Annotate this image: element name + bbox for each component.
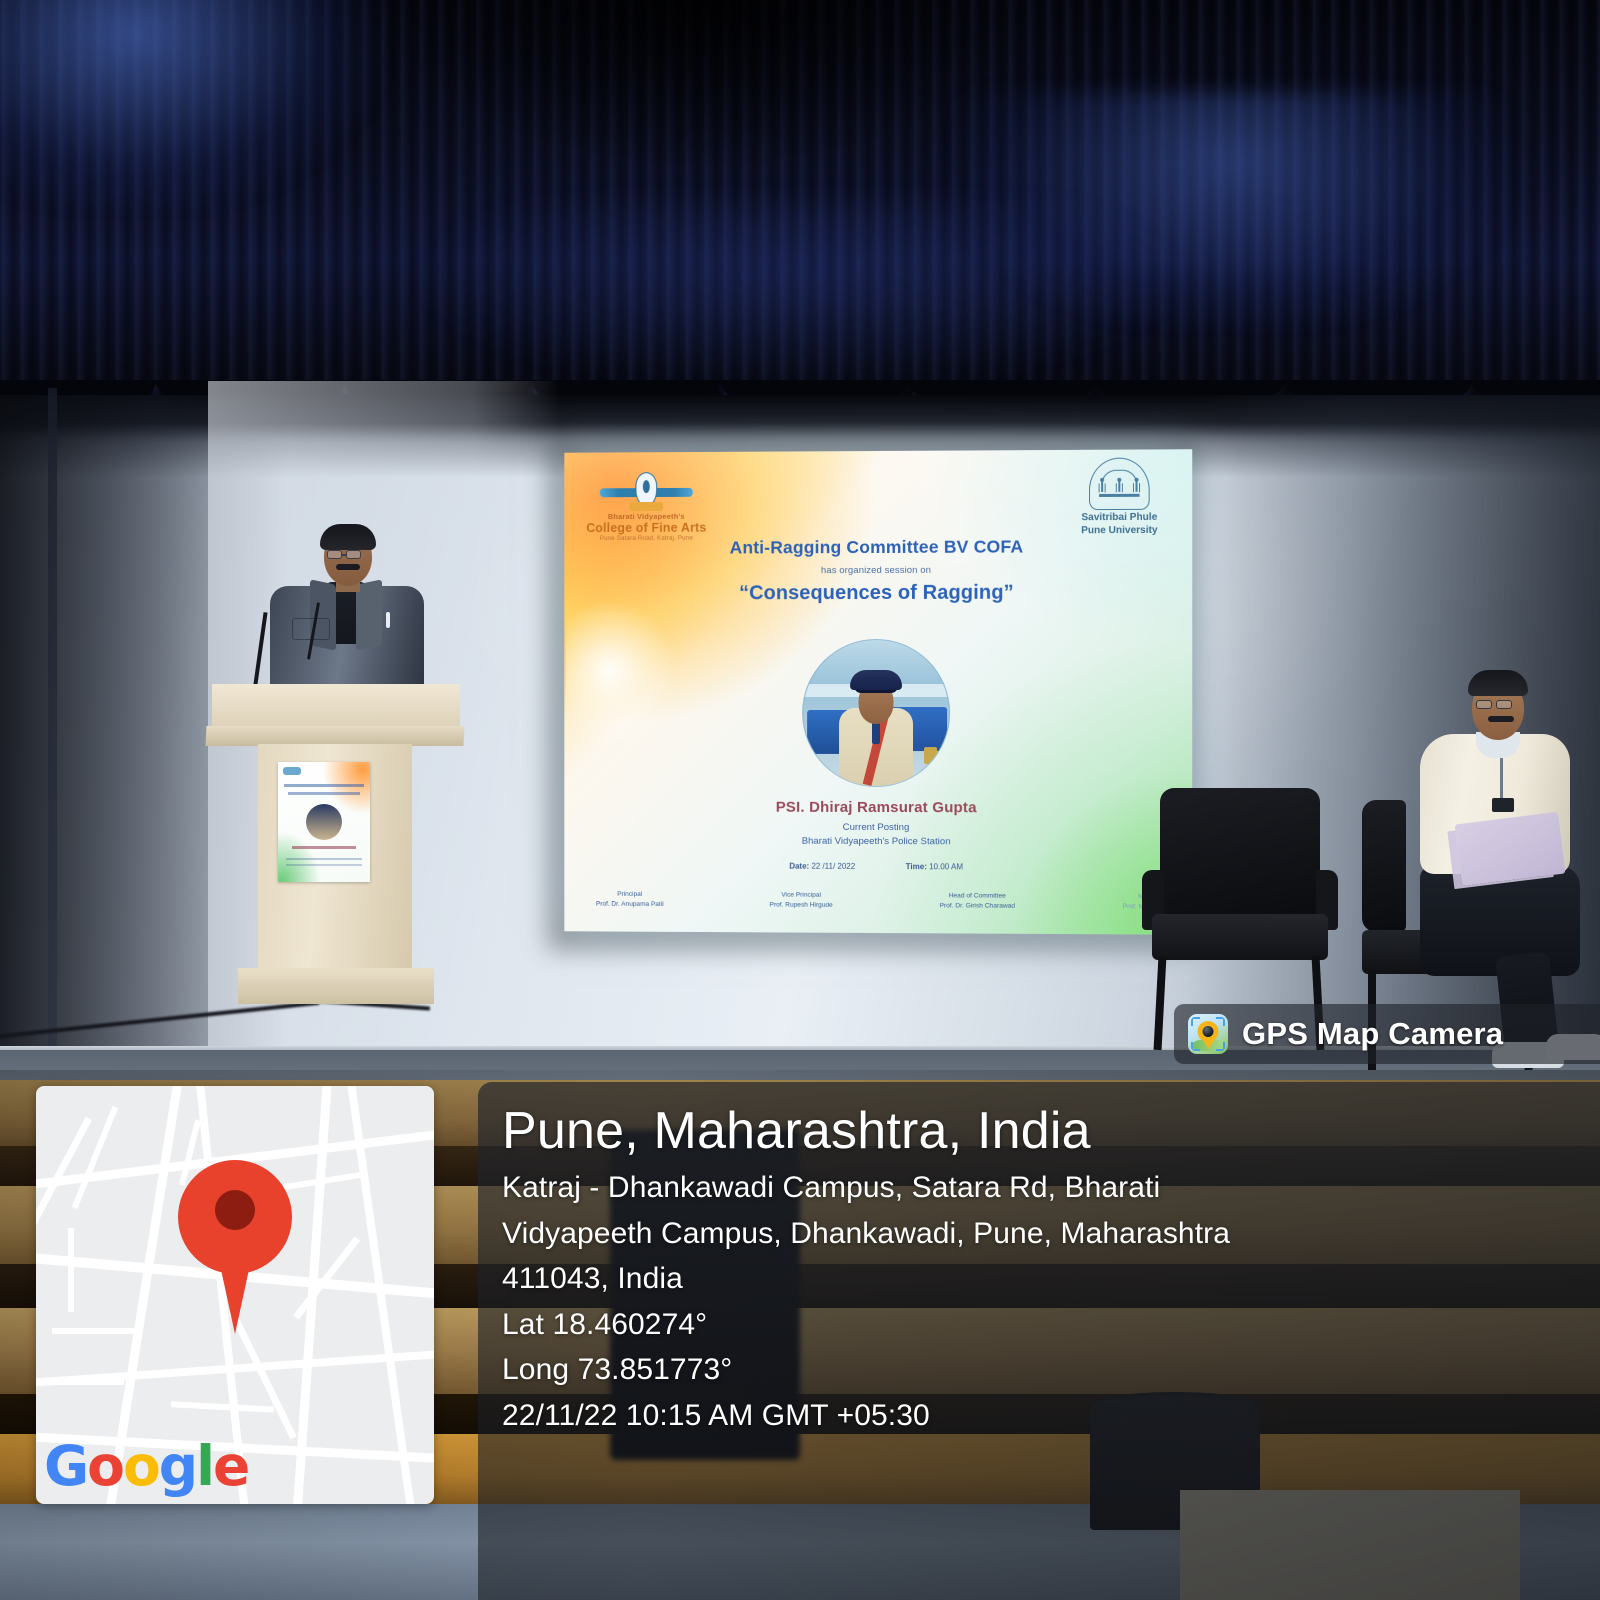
slide-heading: Anti-Ragging Committee BV COFA — [564, 536, 1192, 559]
podium-lip — [205, 726, 464, 746]
address-line-1: Katraj - Dhankawadi Campus, Satara Rd, B… — [502, 1165, 1572, 1211]
college-crest-icon — [600, 472, 693, 512]
slide-time-label: Time: — [906, 862, 927, 871]
curtain-highlight-center — [416, 202, 1184, 391]
wordmark-letter: l — [196, 1434, 213, 1498]
longitude-value: Long 73.851773° — [502, 1347, 1572, 1393]
college-logo: Bharati Vidyapeeth's College of Fine Art… — [582, 472, 711, 542]
wall-panel-edge — [48, 388, 57, 1050]
location-info-panel: Pune, Maharashtra, India Katraj - Dhanka… — [478, 1082, 1600, 1600]
university-logo-line1: Savitribai Phule — [1059, 512, 1180, 525]
slide-theme: “Consequences of Ragging” — [564, 581, 1192, 605]
credit-role: Head of Committee — [940, 891, 1015, 901]
gps-map-camera-watermark: GPS Map Camera — [1174, 1004, 1600, 1064]
location-title: Pune, Maharashtra, India — [502, 1104, 1572, 1159]
wordmark-letter: o — [87, 1434, 123, 1498]
credit-role: Vice Principal — [770, 891, 833, 901]
stage-curtain — [0, 0, 1600, 420]
university-logo: Savitribai Phule Pune University — [1059, 457, 1180, 537]
credit-name: Prof. Dr. Anupama Patil — [596, 899, 664, 909]
gps-map-camera-label: GPS Map Camera — [1242, 1016, 1503, 1052]
slide-date-value: 22 /11/ 2022 — [811, 862, 855, 871]
wordmark-letter: e — [213, 1434, 248, 1498]
credit-name: Prof. Rupesh Hirgude — [770, 900, 833, 910]
slide-credits-row: Principal Prof. Dr. Anupama Patil Vice P… — [596, 890, 1178, 912]
slide-speaker-name: PSI. Dhiraj Ramsurat Gupta — [564, 798, 1192, 817]
college-logo-line2: College of Fine Arts — [582, 521, 711, 535]
credit-item: Principal Prof. Dr. Anupama Patil — [596, 890, 664, 909]
latitude-value: Lat 18.460274° — [502, 1302, 1572, 1348]
police-officer-portrait — [802, 639, 950, 787]
timestamp-value: 22/11/22 10:15 AM GMT +05:30 — [502, 1393, 1572, 1439]
slide-date-time-row: Date: 22 /11/ 2022 Time: 10.00 AM — [564, 861, 1192, 873]
curtain-shadow — [384, 0, 1024, 168]
address-line-3: 411043, India — [502, 1256, 1572, 1302]
photograph: Bharati Vidyapeeth's College of Fine Art… — [0, 0, 1600, 1600]
person-speaking-at-podium — [262, 524, 432, 692]
wordmark-letter: G — [44, 1434, 87, 1498]
credit-name: Prof. Dr. Girish Charawad — [940, 901, 1015, 911]
wordmark-letter: g — [159, 1434, 196, 1498]
slide-date-label: Date: — [789, 862, 809, 871]
university-crest-icon — [1089, 458, 1150, 511]
map-pin-icon — [178, 1160, 292, 1274]
address-line-2: Vidyapeeth Campus, Dhankawadi, Pune, Mah… — [502, 1211, 1572, 1257]
wordmark-letter: o — [123, 1434, 159, 1498]
credit-item: Vice Principal Prof. Rupesh Hirgude — [770, 891, 833, 910]
event-poster-on-podium — [278, 762, 370, 882]
podium-base — [238, 968, 434, 1004]
slide-heading-block: Anti-Ragging Committee BV COFA has organ… — [564, 536, 1192, 606]
map-thumbnail[interactable]: Google — [36, 1086, 434, 1504]
slide-posting-value: Bharati Vidyapeeth's Police Station — [564, 835, 1192, 848]
gps-map-camera-icon — [1188, 1014, 1228, 1054]
curtain-highlight-left — [0, 0, 384, 210]
slide-time-value: 10.00 AM — [929, 862, 963, 871]
slide-subheading: has organized session on — [564, 564, 1192, 577]
projected-slide: Bharati Vidyapeeth's College of Fine Art… — [564, 449, 1192, 935]
slide-posting-label: Current Posting — [564, 821, 1192, 834]
google-wordmark: Google — [44, 1434, 248, 1498]
podium-top — [212, 684, 460, 726]
credit-item: Head of Committee Prof. Dr. Girish Chara… — [940, 891, 1015, 911]
slide-paint-blob — [566, 601, 675, 740]
credit-role: Principal — [596, 890, 664, 900]
